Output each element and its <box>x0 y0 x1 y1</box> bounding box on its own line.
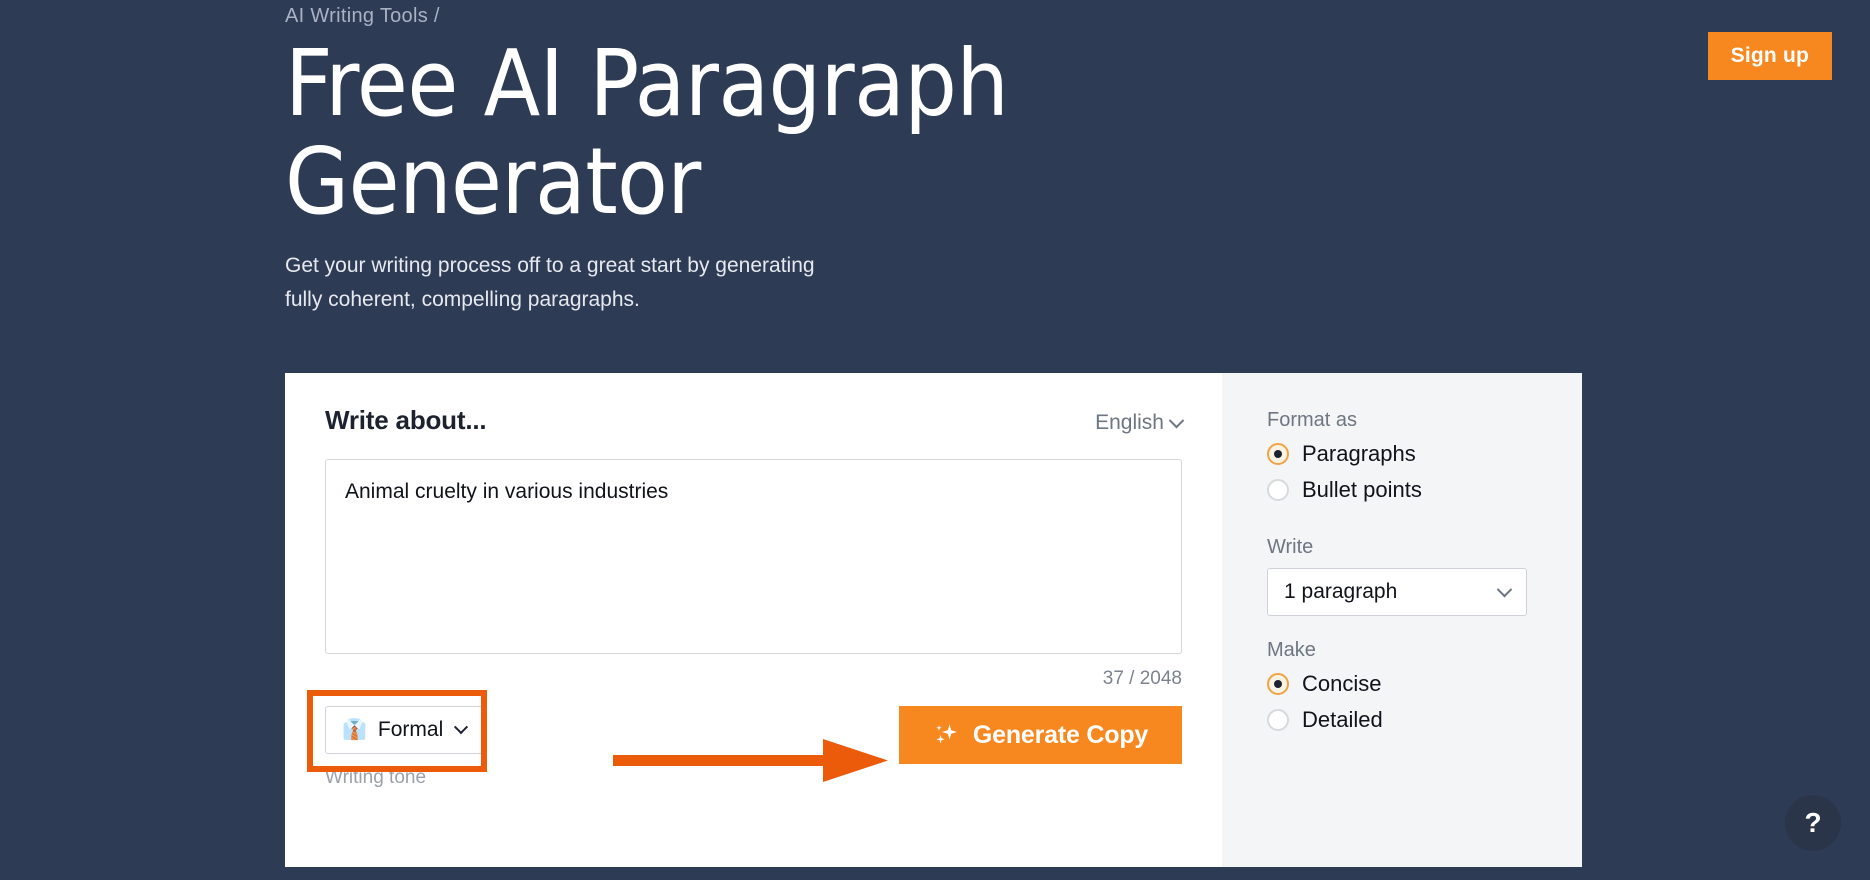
tone-selector-wrapper: 👔 Formal Writing tone <box>325 706 483 789</box>
radio-label-concise: Concise <box>1302 671 1381 697</box>
prompt-textarea[interactable] <box>325 459 1182 654</box>
spacer <box>1267 513 1582 536</box>
help-button[interactable]: ? <box>1785 795 1841 851</box>
generate-copy-label: Generate Copy <box>973 721 1148 750</box>
language-value: English <box>1095 411 1164 435</box>
sparkles-icon <box>933 722 959 748</box>
generator-card: Write about... English 37 / 2048 👔 Forma… <box>285 373 1582 867</box>
page-title: Free AI Paragraph Generator <box>285 35 1165 231</box>
character-counter: 37 / 2048 <box>325 668 1182 690</box>
radio-label-detailed: Detailed <box>1302 707 1383 733</box>
radio-icon-selected[interactable] <box>1267 443 1289 465</box>
format-as-label: Format as <box>1267 409 1582 432</box>
generate-copy-button[interactable]: Generate Copy <box>899 706 1182 764</box>
chevron-down-icon <box>1169 412 1185 428</box>
editor-header: Write about... English <box>325 405 1182 436</box>
chevron-down-icon <box>454 720 468 734</box>
radio-option-bullet-points[interactable]: Bullet points <box>1267 477 1582 503</box>
writing-tone-value: Formal <box>378 718 443 742</box>
necktie-icon: 👔 <box>342 720 367 740</box>
radio-option-paragraphs[interactable]: Paragraphs <box>1267 441 1582 467</box>
hero-section: AI Writing Tools / Free AI Paragraph Gen… <box>285 0 1185 317</box>
paragraph-count-select[interactable]: 1 paragraph <box>1267 568 1527 616</box>
spacer <box>1267 616 1582 639</box>
write-label: Write <box>1267 536 1582 559</box>
radio-icon-unselected[interactable] <box>1267 709 1289 731</box>
editor-panel: Write about... English 37 / 2048 👔 Forma… <box>285 373 1222 867</box>
radio-label-bullet-points: Bullet points <box>1302 477 1422 503</box>
radio-label-paragraphs: Paragraphs <box>1302 441 1416 467</box>
editor-actions: 👔 Formal Writing tone Generate Copy <box>325 706 1182 789</box>
radio-icon-unselected[interactable] <box>1267 479 1289 501</box>
breadcrumb[interactable]: AI Writing Tools / <box>285 0 1185 29</box>
signup-button[interactable]: Sign up <box>1708 32 1832 80</box>
options-panel: Format as Paragraphs Bullet points Write… <box>1222 373 1582 867</box>
radio-option-concise[interactable]: Concise <box>1267 671 1582 697</box>
chevron-down-icon <box>1497 581 1513 597</box>
writing-tone-dropdown[interactable]: 👔 Formal <box>325 706 483 754</box>
page-subtitle: Get your writing process off to a great … <box>285 249 845 317</box>
write-about-heading: Write about... <box>325 405 486 436</box>
radio-option-detailed[interactable]: Detailed <box>1267 707 1582 733</box>
language-dropdown[interactable]: English <box>1095 411 1182 435</box>
paragraph-count-value: 1 paragraph <box>1284 580 1397 604</box>
radio-icon-selected[interactable] <box>1267 673 1289 695</box>
writing-tone-caption: Writing tone <box>325 767 483 789</box>
make-label: Make <box>1267 639 1582 662</box>
